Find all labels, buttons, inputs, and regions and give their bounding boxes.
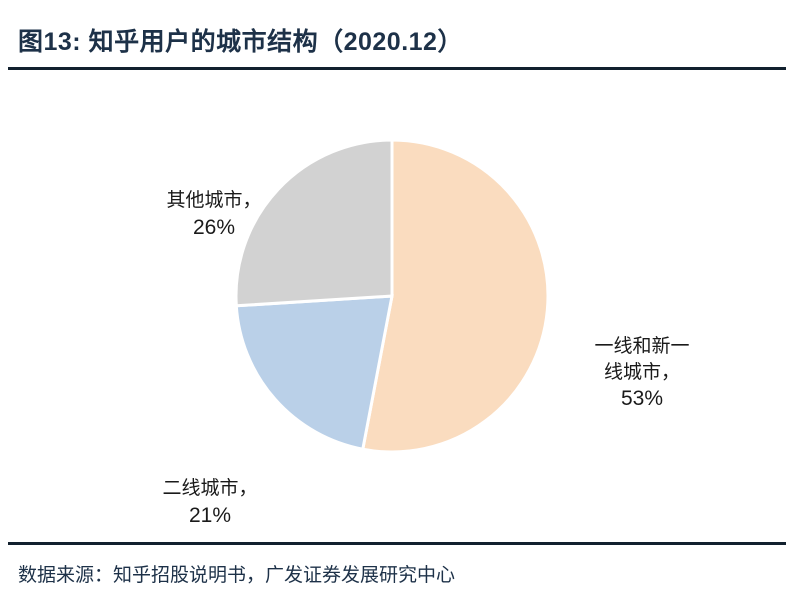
page-title: 图13: 知乎用户的城市结构（2020.12） bbox=[18, 22, 463, 58]
pie-label-tier2: 二线城市， 21% bbox=[120, 476, 300, 530]
footer-divider bbox=[8, 542, 786, 545]
pie-label-other-cities-value: 26% bbox=[128, 214, 300, 242]
pie-label-tier1-and-new-tier1: 一线和新一 线城市， 53% bbox=[552, 334, 732, 414]
pie-label-tier1-name-line2: 线城市， bbox=[604, 362, 680, 383]
pie-label-other-cities: 其他城市， 26% bbox=[128, 188, 300, 242]
pie-chart bbox=[0, 72, 796, 540]
pie-label-other-cities-name: 其他城市， bbox=[166, 190, 261, 211]
title-divider bbox=[8, 67, 786, 70]
source-note: 数据来源：知乎招股说明书，广发证券发展研究中心 bbox=[18, 560, 455, 587]
pie-label-tier1-name-line1: 一线和新一 bbox=[594, 336, 689, 357]
pie-label-tier2-name: 二线城市， bbox=[162, 478, 257, 499]
chart-plot-area: 其他城市， 26% 一线和新一 线城市， 53% 二线城市， 21% bbox=[0, 72, 796, 540]
pie-label-tier1-value: 53% bbox=[552, 385, 732, 413]
figure-container: 图13: 知乎用户的城市结构（2020.12） 其他城市， 26% 一线和新一 … bbox=[0, 0, 796, 600]
pie-slice-tier2[interactable] bbox=[236, 296, 392, 449]
pie-label-tier2-value: 21% bbox=[120, 502, 300, 530]
